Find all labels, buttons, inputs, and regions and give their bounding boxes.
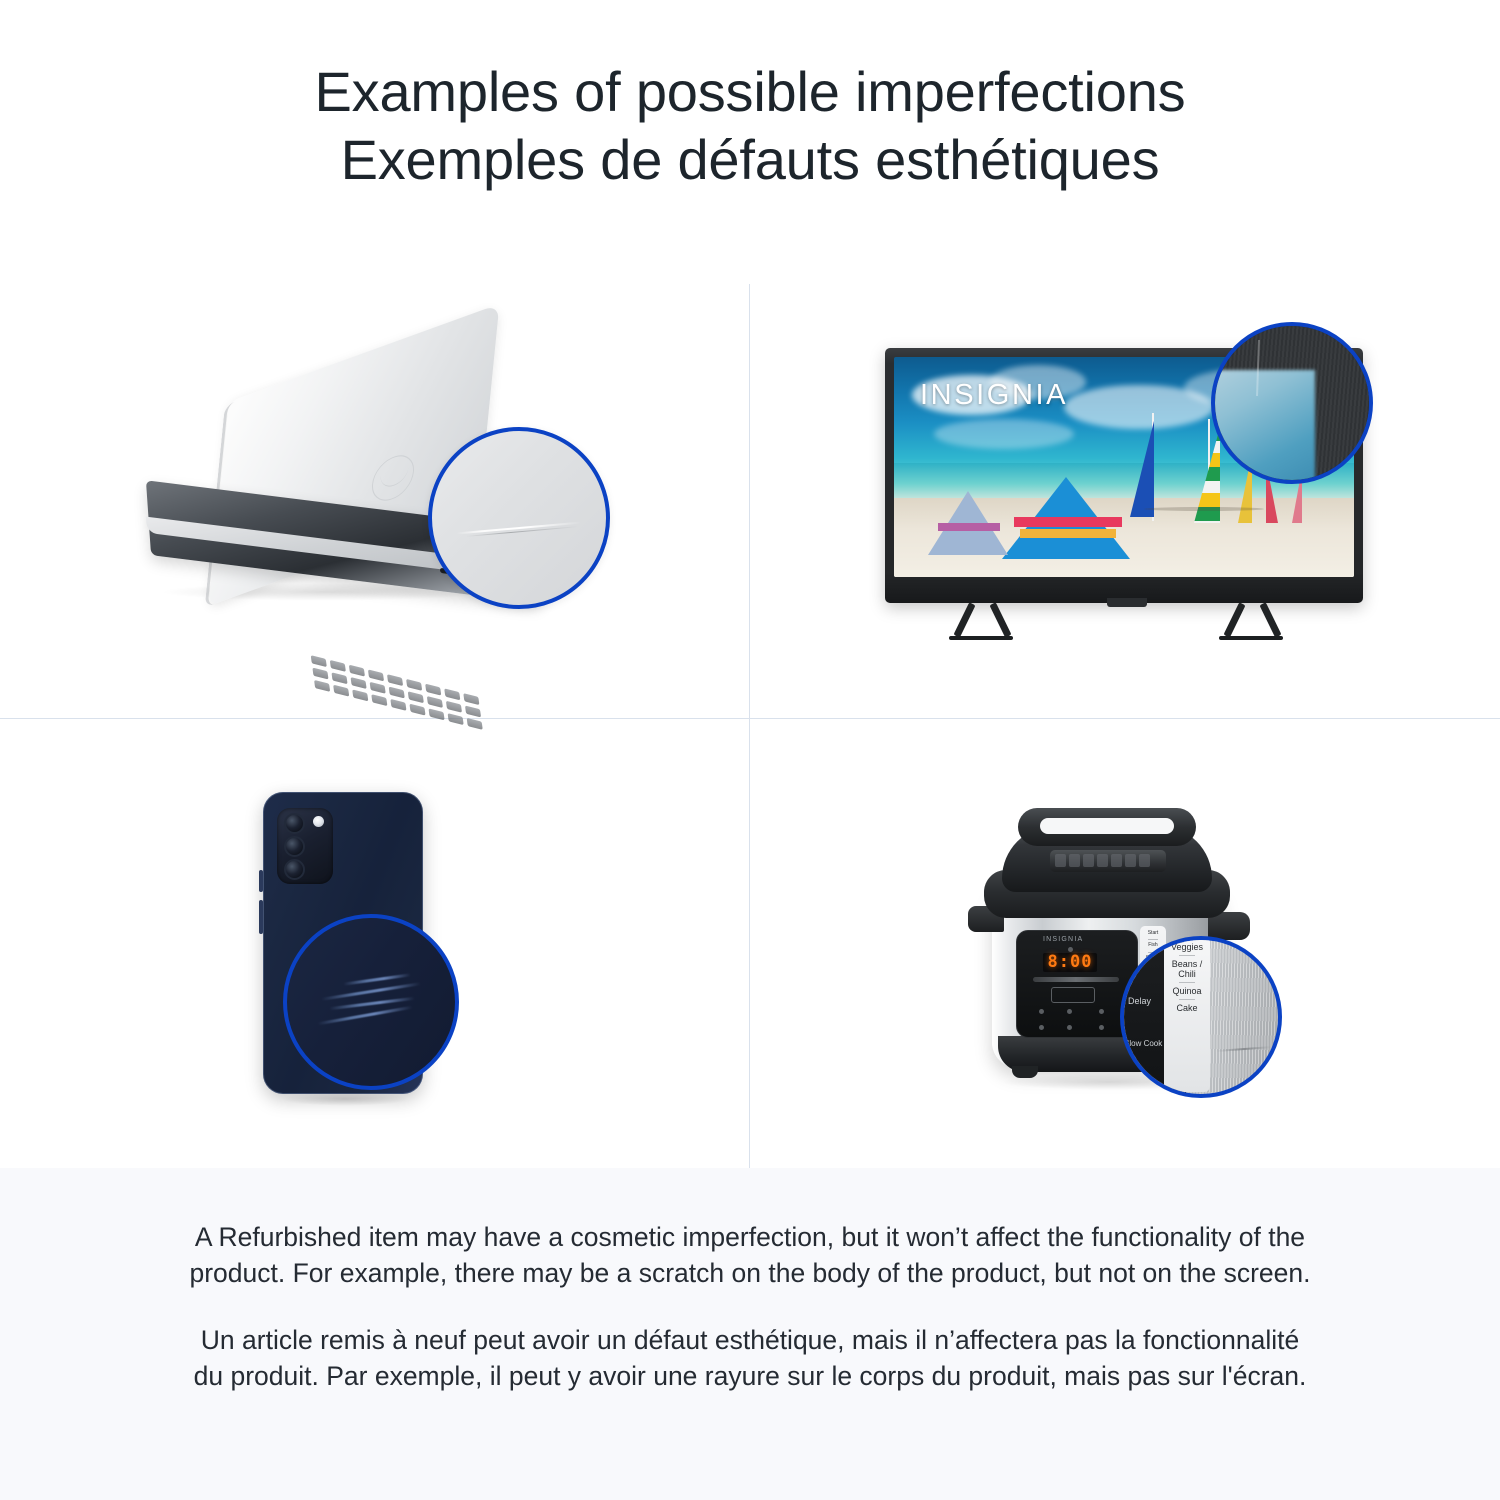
example-cell-pressure-cooker: INSIGNIA 8:00 Start Fish: [750, 719, 1500, 1168]
tv-logo-tab: [1107, 598, 1147, 607]
tv-panel-zoom: [1211, 370, 1315, 484]
indicator-dot-icon: [1068, 947, 1073, 952]
boat-shadow: [1144, 507, 1264, 511]
cloud-icon: [934, 419, 1074, 449]
tv-foot-right: [1219, 636, 1283, 640]
magnifier-circle-phone: [283, 914, 459, 1090]
page-footer: A Refurbished item may have a cosmetic i…: [0, 1168, 1500, 1500]
scratch-line-icon: [343, 973, 411, 985]
page-title-en: Examples of possible imperfections: [315, 58, 1186, 126]
tv-leg-right: [1223, 602, 1245, 637]
magnifier-circle-laptop: [428, 427, 610, 609]
camera-lens-icon: [284, 859, 305, 880]
cooker-zoom-veggies[interactable]: Veggies: [1171, 942, 1203, 952]
camera-lens-icon: [284, 813, 305, 834]
cooker-led-display: 8:00: [1043, 953, 1097, 972]
tv-illustration: INSIGNIA: [875, 320, 1375, 660]
magnifier-circle-cooker: Delay Slow Cook Veggies Beans / Chili Qu…: [1120, 936, 1282, 1098]
cooker-mode-box: [1051, 987, 1095, 1003]
example-cell-tv: INSIGNIA: [750, 262, 1500, 718]
page-header: Examples of possible imperfections Exemp…: [0, 0, 1500, 260]
camera-flash-icon: [313, 816, 324, 827]
cooker-zoom-quinoa[interactable]: Quinoa: [1172, 986, 1201, 996]
pressure-cooker-illustration: INSIGNIA 8:00 Start Fish: [960, 774, 1290, 1114]
kite-stripe-icon: [1014, 517, 1122, 527]
sail-blue-icon: [1130, 421, 1154, 517]
cooker-zoom-button-column[interactable]: Veggies Beans / Chili Quinoa Cake: [1164, 936, 1210, 1092]
cooker-zoom-cake[interactable]: Cake: [1176, 1003, 1197, 1013]
example-cell-laptop: [0, 262, 749, 718]
examples-grid: INSIGNIA: [0, 262, 1500, 1168]
tv-brand-logo: INSIGNIA: [920, 379, 1068, 412]
tv-leg-right: [1259, 602, 1281, 637]
phone-shadow: [281, 1092, 409, 1106]
refurbished-imperfections-infographic: Examples of possible imperfections Exemp…: [0, 0, 1500, 1500]
cooker-zoom-label-slow-cook: Slow Cook: [1124, 1040, 1162, 1049]
cooker-foot-left: [1012, 1066, 1038, 1078]
magnifier-circle-tv: [1211, 322, 1373, 484]
cooker-zoom-label-delay: Delay: [1128, 996, 1151, 1006]
kite-stripe-icon: [938, 523, 1000, 531]
cooker-brand-label: INSIGNIA: [1043, 936, 1083, 943]
cooker-handle-opening: [1040, 818, 1174, 834]
cooker-lid-panel: [1050, 850, 1166, 872]
camera-lens-icon: [284, 836, 305, 857]
phone-illustration: [225, 774, 525, 1114]
phone-volume-button[interactable]: [259, 870, 263, 892]
laptop-illustration: [140, 355, 610, 625]
page-title-fr: Exemples de défauts esthétiques: [341, 126, 1160, 194]
tv-foot-left: [949, 636, 1013, 640]
tv-leg-left: [989, 602, 1011, 637]
cooker-zoom-beans-chili[interactable]: Beans / Chili: [1166, 959, 1208, 979]
phone-camera-module: [277, 808, 333, 884]
kite-stripe-icon: [1020, 529, 1116, 538]
footer-paragraph-en: A Refurbished item may have a cosmetic i…: [185, 1220, 1315, 1291]
cooker-preset-start[interactable]: Start: [1141, 930, 1165, 938]
phone-power-button[interactable]: [259, 900, 263, 934]
footer-paragraph-fr: Un article remis à neuf peut avoir un dé…: [185, 1323, 1315, 1394]
cooker-slider-track[interactable]: [1033, 977, 1119, 982]
tv-leg-left: [953, 602, 975, 637]
example-cell-phone: [0, 719, 749, 1168]
